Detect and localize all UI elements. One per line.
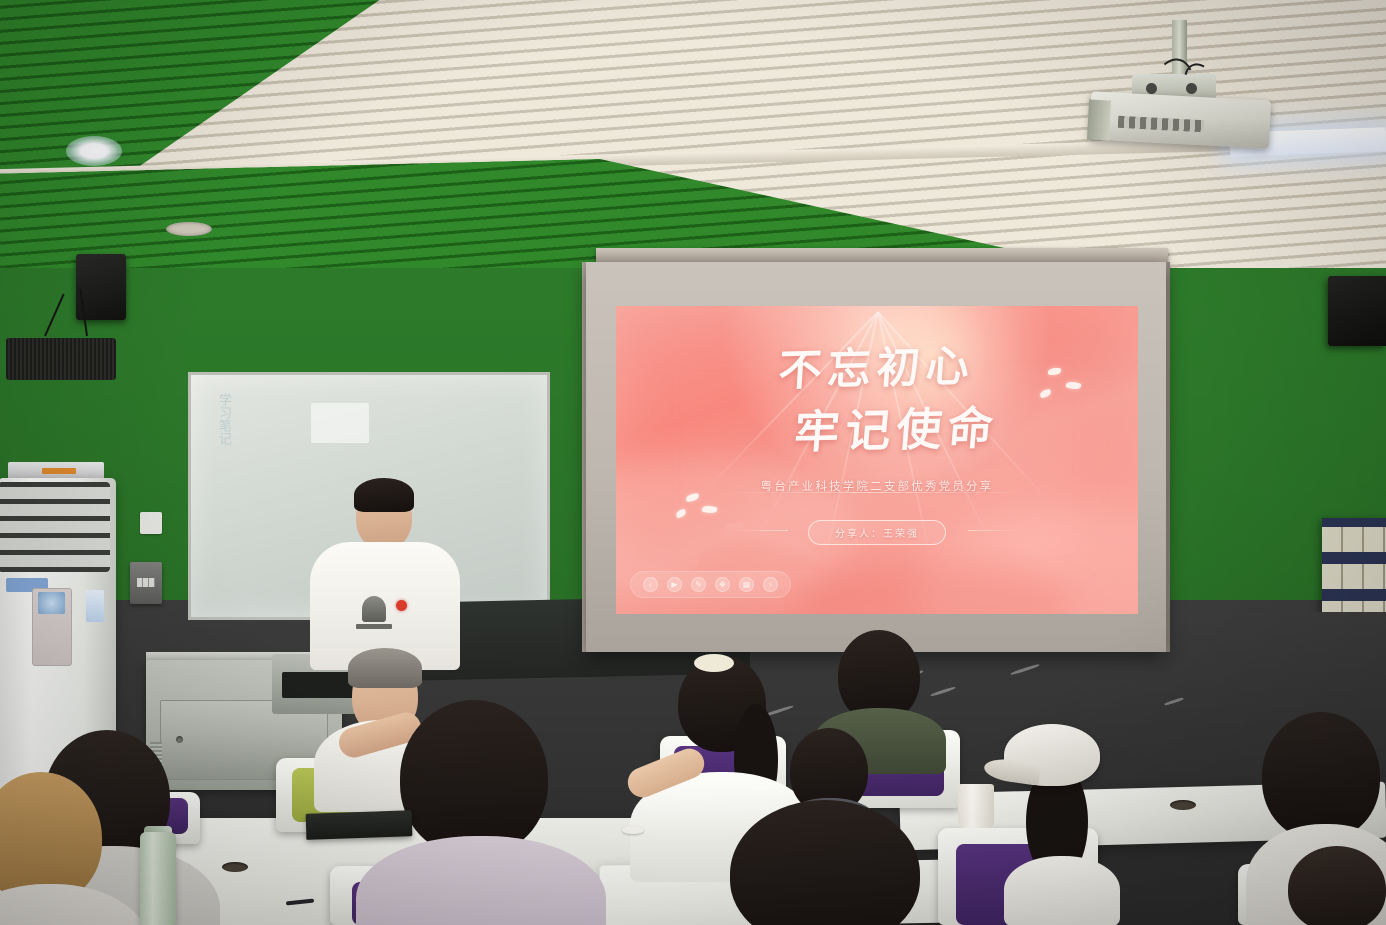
slide-subtitle: 粤台产业科技学院二支部优秀党员分享 (616, 478, 1138, 494)
grid-view-icon[interactable]: ▦ (739, 577, 754, 592)
ceiling-vent (166, 222, 212, 236)
projected-slide: 不忘初心 牢记使命 粤台产业科技学院二支部优秀党员分享 分享人：王荣强 ‹ ▶ … (616, 306, 1138, 614)
breaker-switch (137, 578, 155, 587)
pill-rule-left (734, 530, 788, 531)
projector-lens (1087, 99, 1111, 140)
head (1288, 846, 1386, 925)
wall-speaker-right (1328, 276, 1386, 346)
box-label (42, 468, 76, 474)
party-badge-icon (396, 600, 407, 611)
gray-hair (348, 648, 422, 688)
cabinet-lock (176, 736, 183, 743)
next-slide-icon[interactable]: › (763, 577, 778, 592)
pocket-row (1322, 518, 1386, 552)
ac-louvers (0, 482, 110, 572)
pen-icon[interactable]: ✎ (691, 577, 706, 592)
presenter-shirt-logo-text (356, 624, 392, 629)
presenter-shirt-logo (362, 596, 386, 622)
pill-rule-right (968, 530, 1022, 531)
ceiling-downlight (66, 136, 122, 166)
previous-slide-icon[interactable]: ‹ (643, 577, 658, 592)
play-icon[interactable]: ▶ (667, 577, 682, 592)
pointer-icon[interactable]: ✥ (715, 577, 730, 592)
table-grommet (1170, 800, 1196, 810)
slide-title-line-2: 牢记使命 (616, 389, 1138, 465)
head (1262, 712, 1380, 840)
notebook (306, 810, 413, 840)
whiteboard-paper (311, 403, 369, 443)
classroom-photo: 学习笔记 (0, 0, 1386, 925)
presentation-toolbar[interactable]: ‹ ▶ ✎ ✥ ▦ › (630, 571, 791, 598)
presenter-name-pill: 分享人：王荣强 (808, 520, 946, 545)
ac-display (38, 592, 65, 614)
wall-speaker-left (6, 338, 116, 380)
head (400, 700, 548, 856)
torso (1004, 856, 1120, 925)
table-grommet (222, 862, 248, 872)
wall-socket (140, 512, 162, 534)
pocket-row (1322, 555, 1386, 589)
whiteboard-writing: 学习笔记 (215, 393, 234, 445)
presenter-hair (354, 478, 414, 512)
paper-cup (958, 784, 994, 828)
hair-tie-icon (694, 654, 734, 672)
water-bottle (140, 832, 176, 925)
monitor-slot (282, 672, 356, 698)
ac-energy-sticker (86, 590, 104, 622)
bracelet (622, 826, 644, 834)
